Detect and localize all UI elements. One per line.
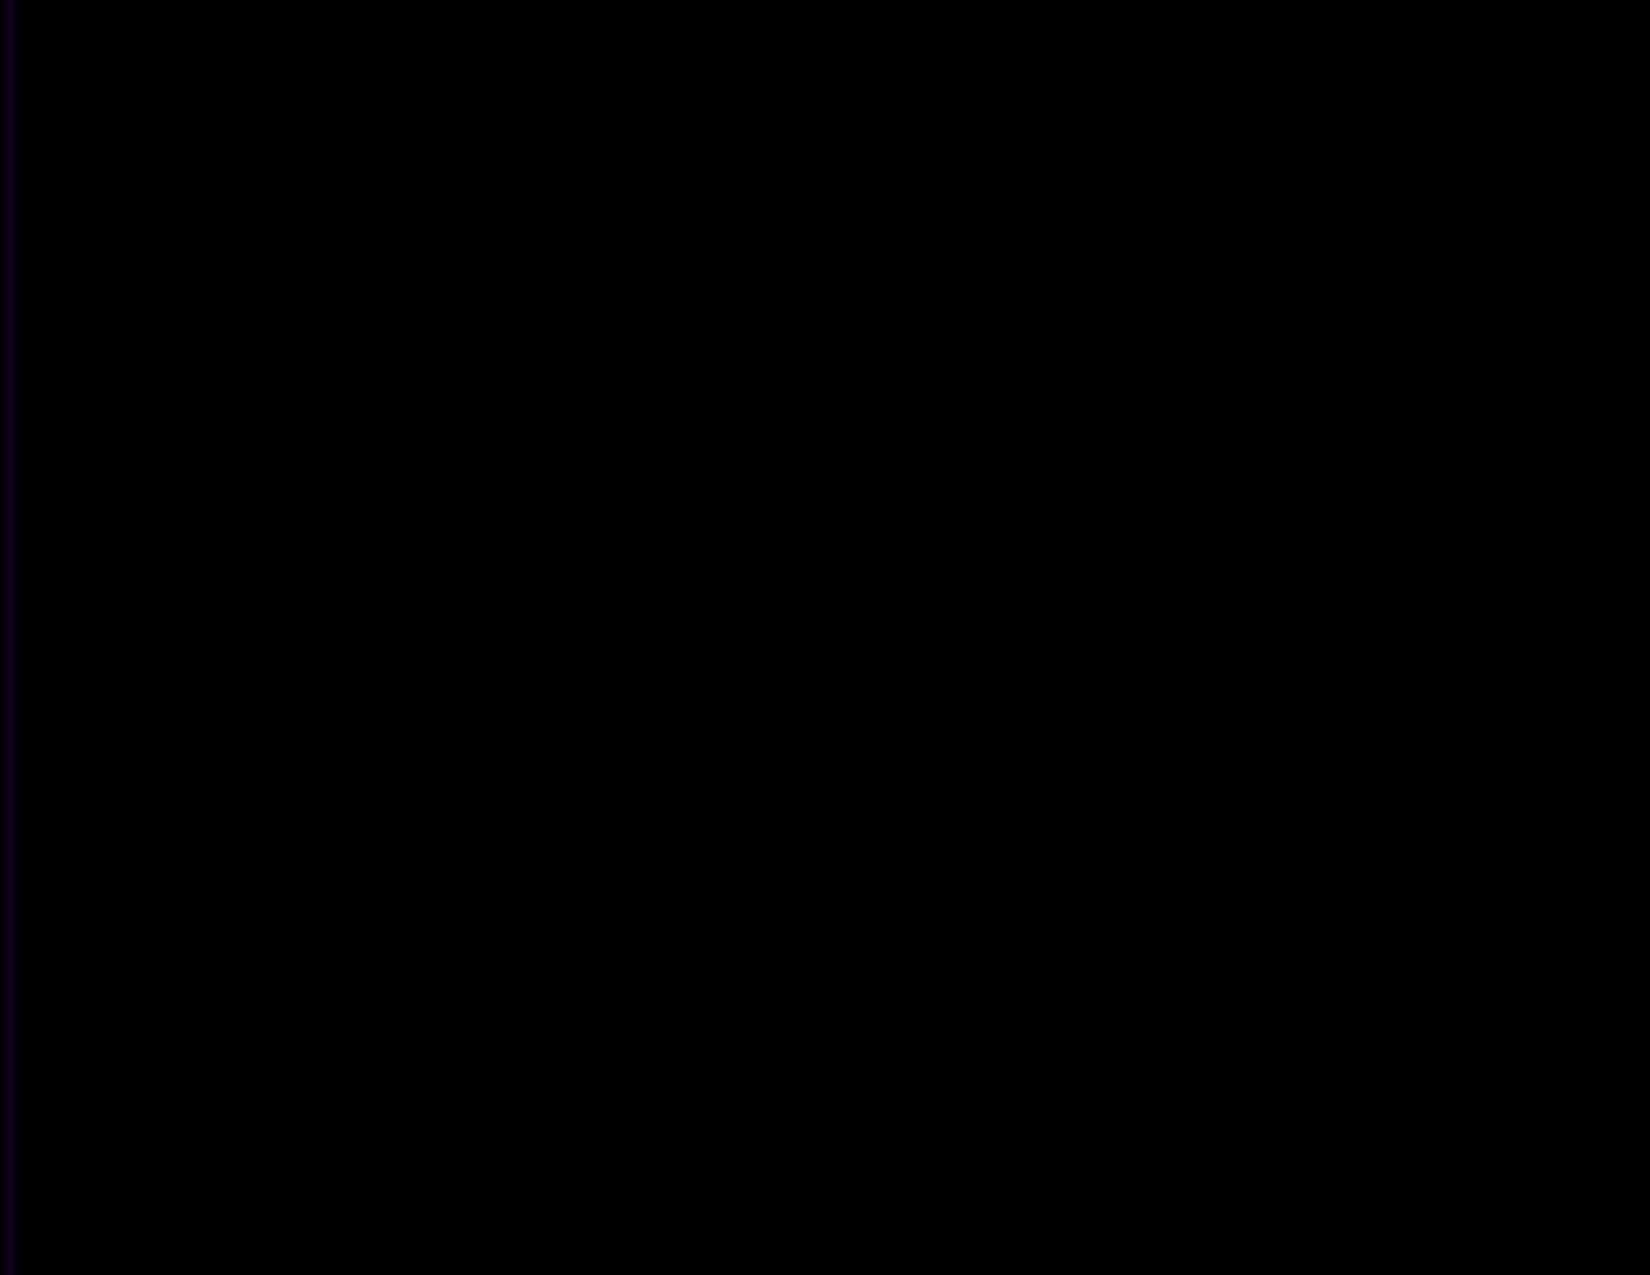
- attribution-dash: —: [817, 404, 879, 473]
- text-layer: O LORD, I love the habitation of Your ho…: [16, 16, 1636, 1232]
- scripture-slide: O LORD, I love the habitation of Your ho…: [0, 0, 1650, 1275]
- bottom-black-band: [0, 1231, 1650, 1275]
- attribution-closing-paren: ): [1452, 404, 1472, 473]
- verse-attribution: — Psalm 26:8 (NASB®): [84, 386, 1472, 481]
- attribution-reference: Psalm 26:8 (NASB: [878, 404, 1428, 473]
- background-artwork: O LORD, I love the habitation of Your ho…: [16, 16, 1636, 1232]
- top-dark-strip: [0, 0, 1650, 16]
- verse-text: O LORD, I love the habitation of Your ho…: [84, 122, 1384, 292]
- registered-trademark-icon: ®: [1428, 410, 1452, 446]
